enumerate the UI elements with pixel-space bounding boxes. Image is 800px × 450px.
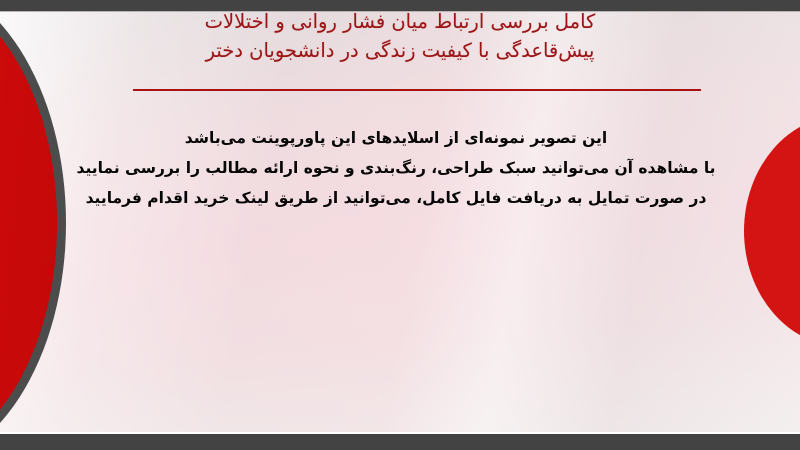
slide-body-line-2: با مشاهده آن می‌توانید سبک طراحی، رنگ‌بن…: [62, 153, 730, 183]
slide-body-line-3: در صورت تمایل به دریافت فایل کامل، می‌تو…: [62, 183, 730, 213]
slide-body-text: این تصویر نمونه‌ای از اسلایدهای این پاور…: [62, 123, 730, 213]
slide-title-line-2: پیش‌قاعدگی با کیفیت زندگی در دانشجویان د…: [96, 36, 704, 65]
slide-title: کامل بررسی ارتباط میان فشار روانی و اختل…: [96, 11, 704, 65]
slide-content: کامل بررسی ارتباط میان فشار روانی و اختل…: [0, 11, 800, 434]
slide-title-line-1: کامل بررسی ارتباط میان فشار روانی و اختل…: [96, 11, 704, 36]
presentation-slide: کامل بررسی ارتباط میان فشار روانی و اختل…: [0, 0, 800, 450]
slide-body-line-1: این تصویر نمونه‌ای از اسلایدهای این پاور…: [62, 123, 730, 153]
slide-canvas: کامل بررسی ارتباط میان فشار روانی و اختل…: [0, 11, 800, 434]
slide-title-underline: [133, 89, 701, 91]
